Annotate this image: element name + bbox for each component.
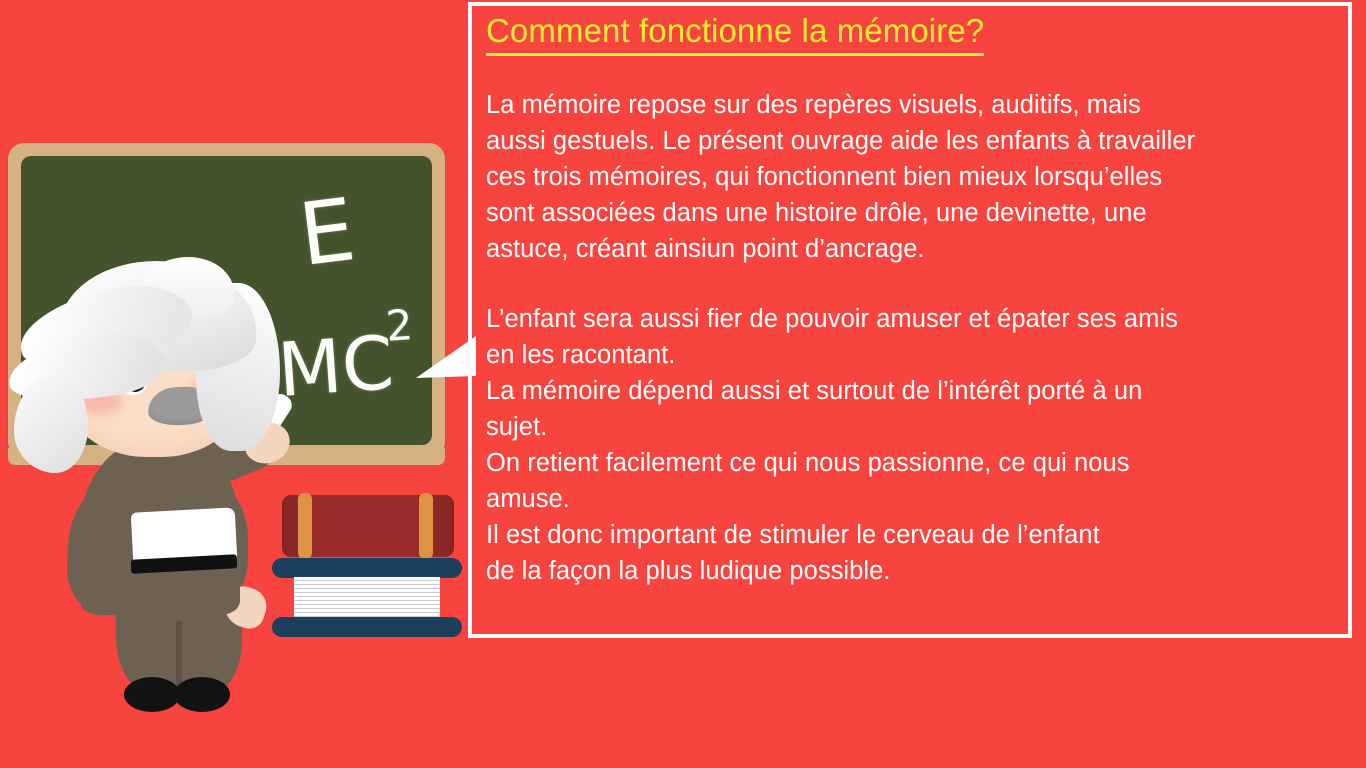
red-book-left-clasp <box>298 493 312 559</box>
speech-bubble-content: Comment fonctionne la mémoire? La mémoir… <box>472 6 1348 589</box>
red-book-right-clasp <box>419 493 433 559</box>
paragraph-line: La mémoire repose sur des repères visuel… <box>486 87 1348 123</box>
paragraph-line: L’enfant sera aussi fier de pouvoir amus… <box>486 301 1348 337</box>
paragraph-line: de la façon la plus ludique possible. <box>486 553 1348 589</box>
einstein-character <box>0 165 300 665</box>
paragraph-line: Il est donc important de stimuler le cer… <box>486 517 1348 553</box>
paragraph-line: amuse. <box>486 481 1348 517</box>
paragraph-line: La mémoire dépend aussi et surtout de l’… <box>486 373 1348 409</box>
einstein-chalkboard-illustration: E MC 2 <box>0 0 470 700</box>
navy-book-pages <box>294 577 440 620</box>
paragraph-line: astuce, créant ainsiun point d’ancrage. <box>486 231 1348 267</box>
book-stack <box>272 495 462 620</box>
hair-left-puff <box>14 377 88 473</box>
slide-canvas: E MC 2 <box>0 0 1366 768</box>
navy-book-bottom-cover <box>272 617 462 637</box>
paragraph-line: sont associées dans une histoire drôle, … <box>486 195 1348 231</box>
paragraph-line: On retient facilement ce qui nous passio… <box>486 445 1348 481</box>
page-title: Comment fonctionne la mémoire? <box>486 12 984 56</box>
paragraph-line: en les racontant. <box>486 337 1348 373</box>
speech-bubble: Comment fonctionne la mémoire? La mémoir… <box>468 2 1352 638</box>
paragraph-line: ces trois mémoires, qui fonctionnent bie… <box>486 159 1348 195</box>
paragraph-how-memory-works: La mémoire repose sur des repères visuel… <box>486 87 1348 267</box>
left-shoe <box>124 677 180 712</box>
bubble-title-wrap: Comment fonctionne la mémoire? <box>486 12 1334 56</box>
speech-bubble-tail-icon <box>414 336 476 384</box>
navy-book-top-cover <box>272 558 462 578</box>
paragraph-line: sujet. <box>486 409 1348 445</box>
paragraph-child-interest: L’enfant sera aussi fier de pouvoir amus… <box>486 301 1348 589</box>
paragraph-line: aussi gestuels. Le présent ouvrage aide … <box>486 123 1348 159</box>
right-shoe <box>174 677 230 712</box>
